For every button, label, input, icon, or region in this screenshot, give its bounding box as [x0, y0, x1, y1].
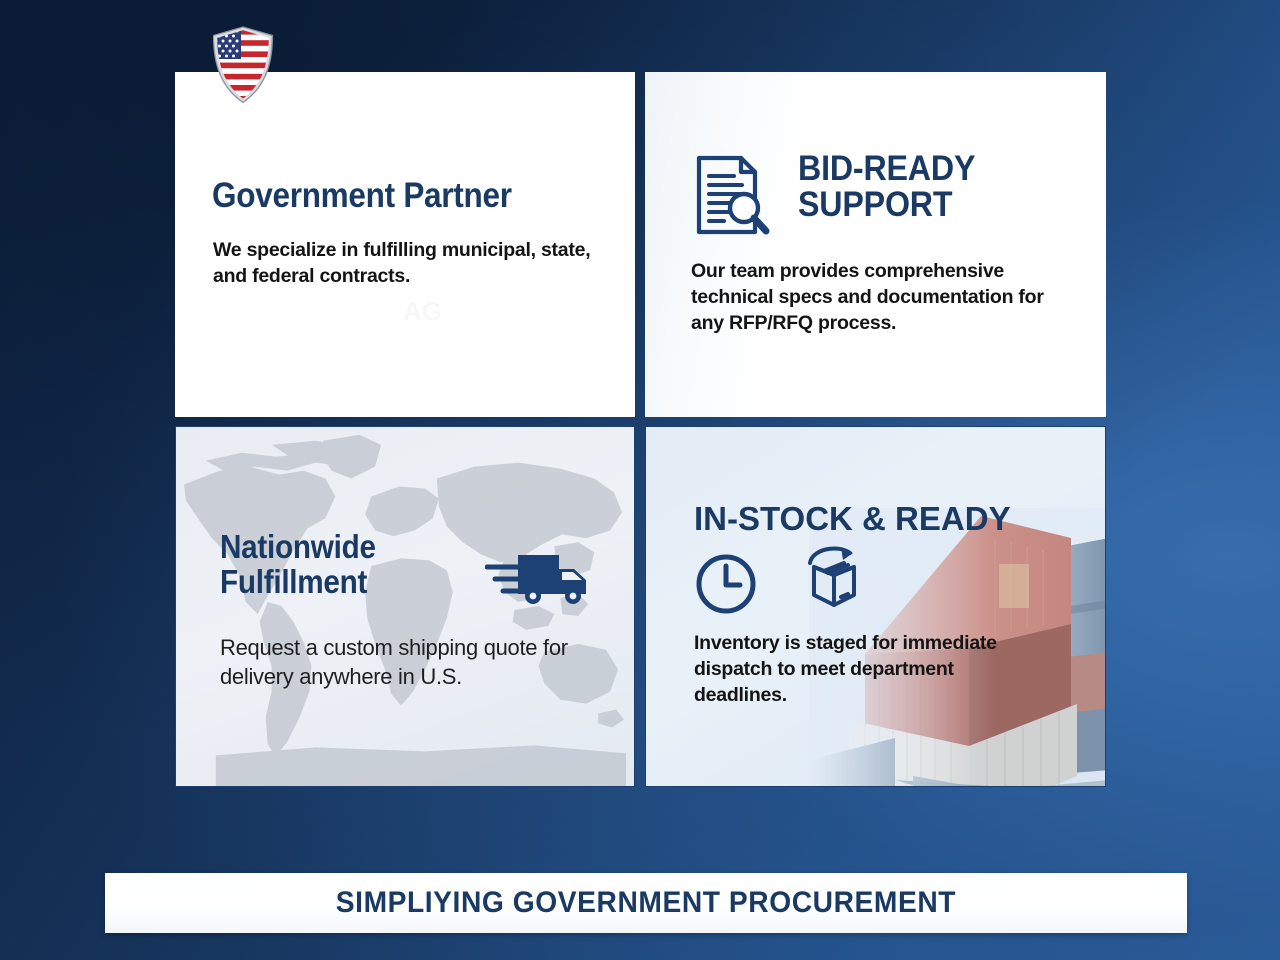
panel-title-bid-ready-line2: SUPPORT [798, 187, 1065, 223]
return-box-icon [798, 545, 868, 617]
panel-title-bid-ready-line1: BID-READY [798, 151, 1065, 187]
delivery-truck-icon [485, 550, 591, 606]
banner-text: SIMPLIYING GOVERNMENT PROCUREMENT [336, 886, 956, 920]
document-magnifier-icon [694, 154, 770, 236]
panel-in-stock-ready[interactable]: IN-STOCK & READY Inventory is staged for… [645, 426, 1106, 787]
bottom-banner[interactable]: SIMPLIYING GOVERNMENT PROCUREMENT [105, 873, 1187, 933]
world-map-background [176, 427, 634, 786]
panel-body-bid-ready: Our team provides comprehensive technica… [691, 259, 1071, 337]
clock-icon [694, 552, 758, 616]
panel-government-partner[interactable]: Government Partner We specialize in fulf… [175, 72, 635, 417]
panel-title-in-stock: IN-STOCK & READY [694, 500, 1011, 538]
usa-flag-shield-icon [211, 26, 275, 104]
feature-panel-grid: Government Partner We specialize in fulf… [175, 72, 1106, 787]
panel-title-bid-ready: BID-READY SUPPORT [798, 151, 1065, 224]
faint-watermark-artifact: AG [403, 296, 459, 326]
panel-bid-ready-support[interactable]: BID-READY SUPPORT Our team provides comp… [645, 72, 1106, 417]
panel-body-nationwide: Request a custom shipping quote for deli… [220, 634, 610, 691]
panel-title-nationwide: Nationwide Fulfillment [220, 530, 376, 600]
panel-title-nationwide-line1: Nationwide [220, 530, 376, 565]
panel-body-government-partner: We specialize in fulfilling municipal, s… [213, 238, 619, 290]
panel-nationwide-fulfillment[interactable]: Nationwide Fulfillment Request a custom … [175, 426, 635, 787]
panel-body-in-stock: Inventory is staged for immediate dispat… [694, 631, 1034, 709]
panel-title-government-partner: Government Partner [212, 177, 512, 214]
panel-title-nationwide-line2: Fulfillment [220, 565, 376, 600]
